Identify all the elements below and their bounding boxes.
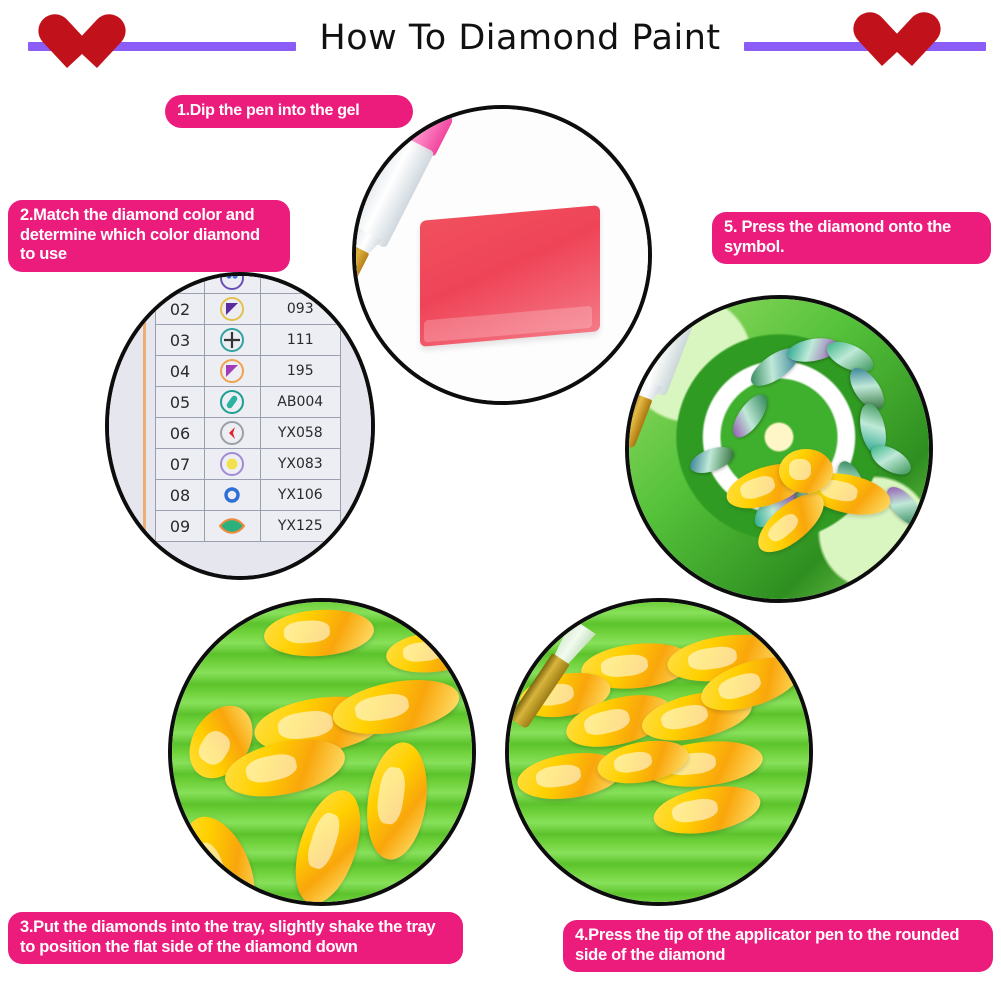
chart-cell-symbol [205, 449, 260, 480]
chart-cell-code: YX058 [260, 418, 341, 449]
page-header: How To Diamond Paint [0, 0, 1001, 86]
chart-cell-number: 05 [156, 387, 205, 418]
color-chart-row: 07YX083 [156, 449, 341, 480]
chart-cell-number [156, 272, 205, 294]
color-chart-row: 09YX125 [156, 511, 341, 542]
chart-cell-code: YX083 [260, 449, 341, 480]
yellow-diamond-petal [779, 449, 833, 493]
color-chart-row: 03111 [156, 325, 341, 356]
chart-cell-code: YX125 [260, 511, 341, 542]
page-title: How To Diamond Paint [300, 18, 740, 58]
color-chart-row: 05AB004 [156, 387, 341, 418]
heart-icon-left [65, 14, 125, 70]
slash-capsule-symbol [205, 387, 259, 417]
left-chevron-symbol [205, 418, 259, 448]
step-5-photo-press-onto-symbol [625, 295, 933, 603]
step-3-photo-diamonds-in-tray [168, 598, 476, 906]
chart-cell-number: 04 [156, 356, 205, 387]
pen-metal-tip [625, 393, 652, 448]
chart-cell-code: 111 [260, 325, 341, 356]
heart-icon-right [880, 12, 940, 68]
step-5-label: 5. Press the diamond onto the symbol. [712, 212, 991, 264]
color-chart-row: 06YX058 [156, 418, 341, 449]
chart-cell-code: 195 [260, 356, 341, 387]
chart-cell-number: 07 [156, 449, 205, 480]
chart-margin-line-left [143, 276, 146, 576]
color-chart-row: 028 [156, 272, 341, 294]
chart-cell-number: 03 [156, 325, 205, 356]
double-dot-circle-symbol [205, 272, 259, 293]
chart-cell-code: YX106 [260, 480, 341, 511]
color-symbol-table: 02802093031110419505AB00406YX05807YX0830… [155, 272, 341, 542]
chart-cell-symbol [205, 325, 260, 356]
filled-dot-symbol [205, 449, 259, 479]
triangle-flag-symbol [205, 356, 259, 386]
open-ring-symbol [205, 480, 259, 510]
chart-cell-code: 028 [260, 272, 341, 294]
color-chart-row: 08YX106 [156, 480, 341, 511]
plus-cross-symbol [205, 325, 259, 355]
step-4-photo-pen-tip-on-diamond [505, 598, 813, 906]
step-2-photo-color-chart: 02802093031110419505AB00406YX05807YX0830… [105, 272, 375, 580]
step-3-label: 3.Put the diamonds into the tray, slight… [8, 912, 463, 964]
color-chart-row: 04195 [156, 356, 341, 387]
chart-cell-symbol [205, 480, 260, 511]
chart-cell-symbol [205, 272, 260, 294]
step-4-label: 4.Press the tip of the applicator pen to… [563, 920, 993, 972]
chart-cell-symbol [205, 511, 260, 542]
triangle-flag-symbol [205, 294, 259, 324]
chart-cell-code: 093 [260, 294, 341, 325]
step-2-label: 2.Match the diamond color and determine … [8, 200, 290, 272]
chart-cell-symbol [205, 387, 260, 418]
chart-cell-number: 02 [156, 294, 205, 325]
chart-cell-symbol [205, 418, 260, 449]
chart-cell-symbol [205, 294, 260, 325]
chart-cell-number: 06 [156, 418, 205, 449]
chart-cell-number: 09 [156, 511, 205, 542]
chart-cell-symbol [205, 356, 260, 387]
chart-cell-code: AB004 [260, 387, 341, 418]
chart-cell-number: 08 [156, 480, 205, 511]
color-chart-row: 02093 [156, 294, 341, 325]
leaf-marquise-symbol [205, 511, 259, 541]
wax-gel-pad [420, 205, 600, 347]
step-1-photo-gel-dip [352, 105, 652, 405]
